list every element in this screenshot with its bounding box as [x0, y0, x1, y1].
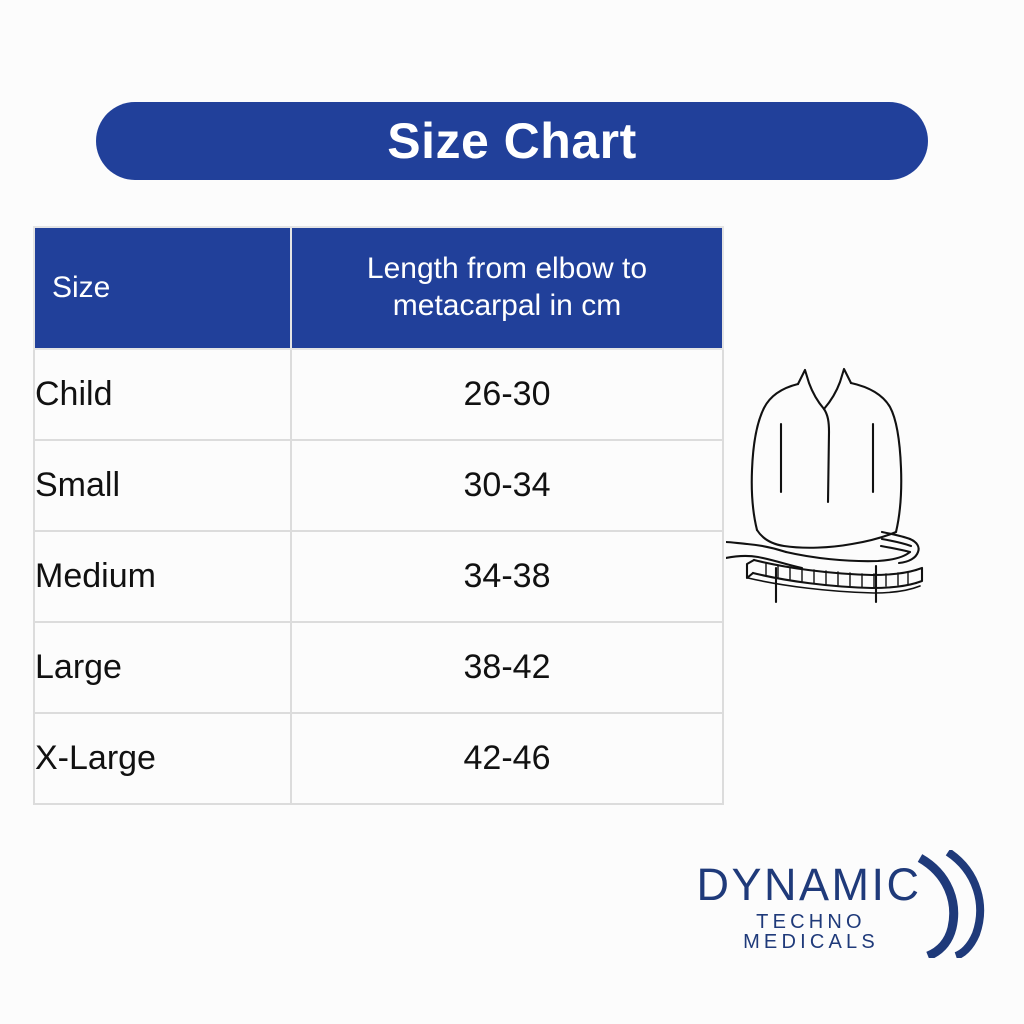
column-header-length-line2: metacarpal in cm — [393, 289, 621, 322]
torso-with-measuring-tape-icon — [726, 352, 988, 620]
cell-size: Medium — [34, 531, 291, 622]
page-title: Size Chart — [387, 116, 637, 166]
column-header-size: Size — [34, 227, 291, 349]
cell-length: 26-30 — [291, 349, 723, 440]
logo-wordmark: DYNAMIC — [686, 862, 932, 907]
table-row: X-Large 42-46 — [34, 713, 723, 804]
cell-length: 30-34 — [291, 440, 723, 531]
cell-length: 42-46 — [291, 713, 723, 804]
measurement-illustration — [726, 352, 988, 620]
cell-size: Small — [34, 440, 291, 531]
logo-tagline: TECHNO MEDICALS — [686, 912, 936, 952]
column-header-length: Length from elbow to metacarpal in cm — [291, 227, 723, 349]
brand-logo: DYNAMIC TECHNO MEDICALS — [686, 856, 986, 956]
table-row: Medium 34-38 — [34, 531, 723, 622]
table-row: Large 38-42 — [34, 622, 723, 713]
column-header-size-label: Size — [35, 271, 290, 306]
table-header: Size Length from elbow to metacarpal in … — [34, 227, 723, 349]
cell-size: Large — [34, 622, 291, 713]
table-body: Child 26-30 Small 30-34 Medium 34-38 Lar… — [34, 349, 723, 804]
column-header-length-label: Length from elbow to metacarpal in cm — [292, 251, 722, 324]
table-row: Child 26-30 — [34, 349, 723, 440]
size-chart-title-banner: Size Chart — [96, 102, 928, 180]
column-header-length-line1: Length from elbow to — [367, 252, 647, 285]
cell-length: 34-38 — [291, 531, 723, 622]
cell-size: X-Large — [34, 713, 291, 804]
table-row: Small 30-34 — [34, 440, 723, 531]
table-header-row: Size Length from elbow to metacarpal in … — [34, 227, 723, 349]
logo-wave-arcs-icon — [914, 850, 990, 958]
cell-size: Child — [34, 349, 291, 440]
cell-length: 38-42 — [291, 622, 723, 713]
size-chart-table: Size Length from elbow to metacarpal in … — [33, 226, 724, 805]
